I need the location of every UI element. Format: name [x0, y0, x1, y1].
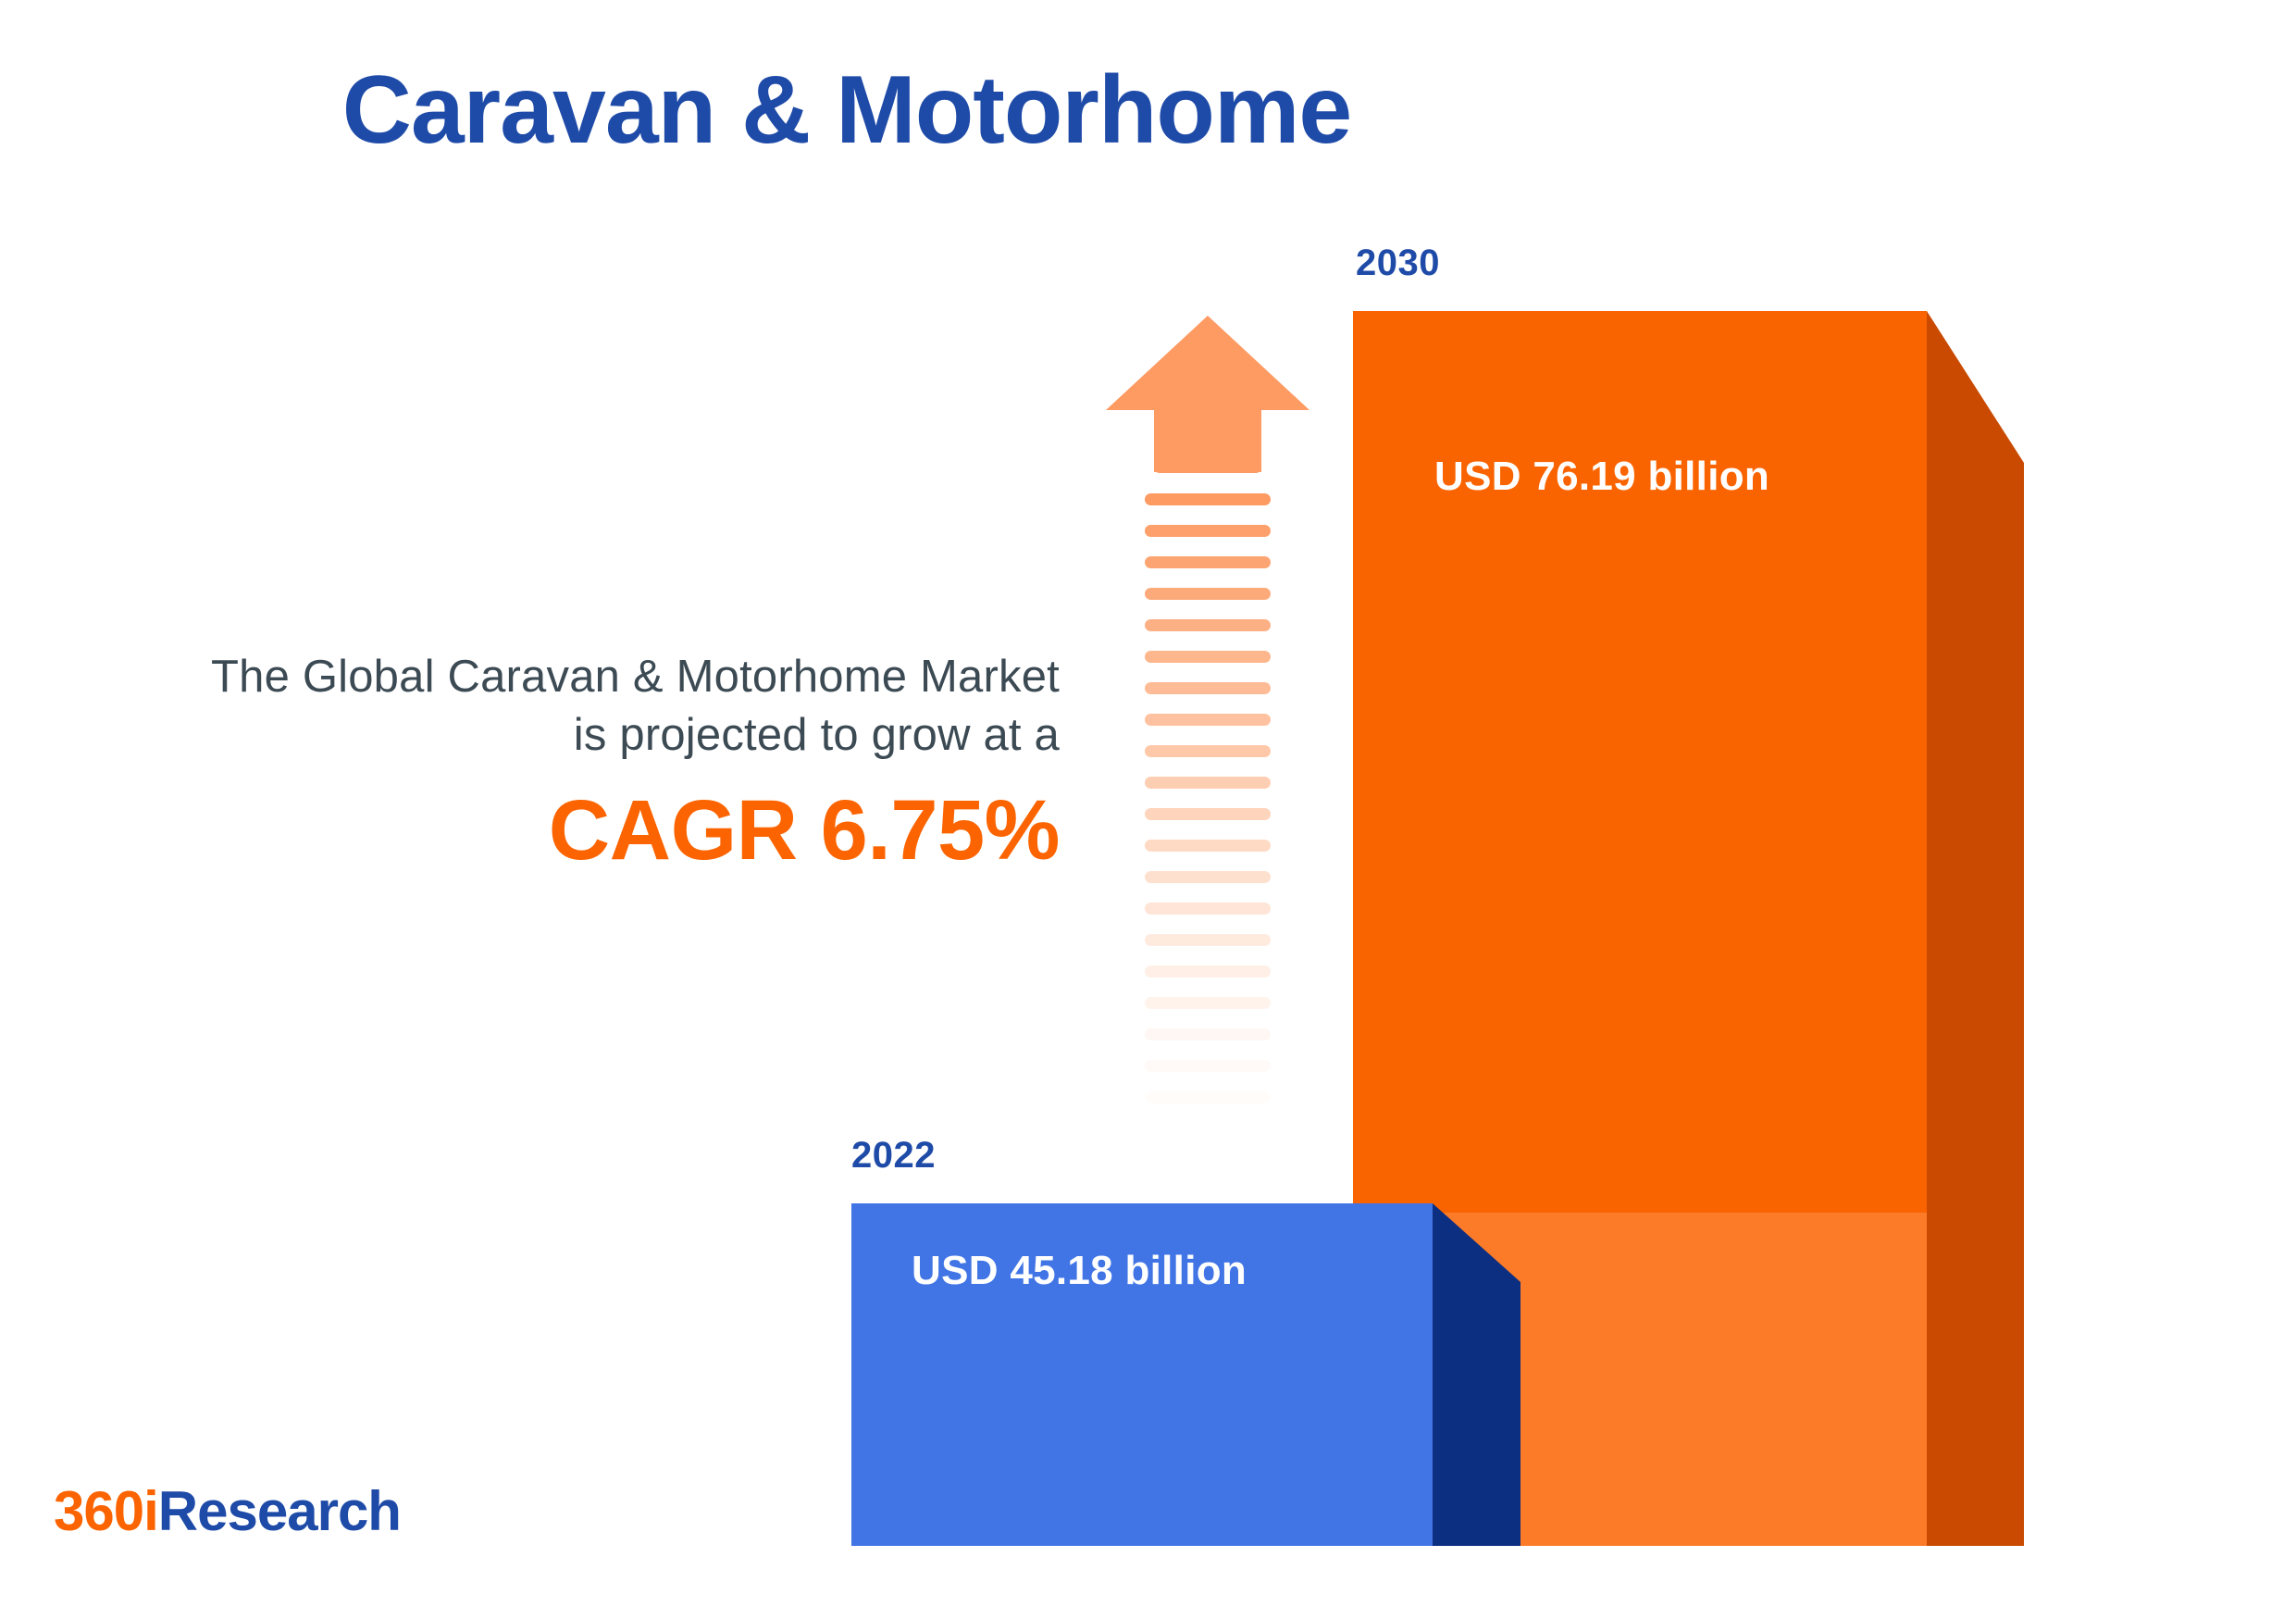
bar-chart: 2030 2022 USD 76.19 billion USD 45.18 bi… [833, 231, 2054, 1564]
bar-chart-svg [833, 231, 2054, 1564]
brand-logo-360i: 360i [54, 1480, 158, 1542]
page-title: Caravan & Motorhome [0, 57, 1694, 163]
bar-value-2022: USD 45.18 billion [912, 1248, 1247, 1294]
brand-logo-research: Research [158, 1480, 401, 1542]
infographic-canvas: Caravan & Motorhome The Global Caravan &… [0, 0, 2296, 1619]
year-label-2022: 2022 [851, 1135, 936, 1177]
year-label-2030: 2030 [1356, 243, 1440, 284]
bar-2030-side-face [1927, 311, 2024, 1546]
bar-value-2030: USD 76.19 billion [1434, 454, 1769, 500]
brand-logo[interactable]: 360iResearch [54, 1479, 401, 1543]
